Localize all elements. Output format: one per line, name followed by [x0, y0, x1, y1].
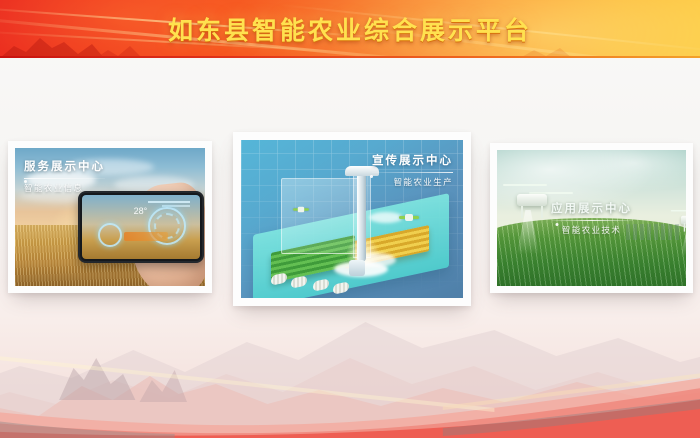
- light-streak-foreground: [0, 352, 700, 422]
- drone-body: [517, 194, 547, 206]
- drone-leg: [521, 206, 523, 218]
- glass-panel: [281, 178, 363, 254]
- card-promotion-caption: 宣传展示中心 智能农业生产: [372, 154, 453, 188]
- card-application-caption: 应用展示中心 智能农业技术: [551, 202, 632, 236]
- card-application-image: 应用展示中心 智能农业技术: [497, 150, 686, 286]
- card-service-title: 服务展示中心: [24, 160, 105, 174]
- temperature-readout: 28°: [134, 206, 148, 216]
- drone-rotor-icon: [503, 184, 547, 186]
- page-title: 如东县智能农业综合展示平台: [0, 0, 700, 58]
- drone-leg: [541, 206, 543, 218]
- card-promotion-display-center[interactable]: 宣传展示中心 智能农业生产: [233, 132, 471, 306]
- header-banner: 如东县智能农业综合展示平台: [0, 0, 700, 58]
- drone-rotor-icon: [671, 210, 686, 211]
- water-bucket-icon: [349, 260, 365, 276]
- card-service-subtitle: 智能农业信息: [24, 182, 105, 194]
- card-promotion-image: 宣传展示中心 智能农业生产: [241, 140, 463, 298]
- caption-dot-icon: [24, 180, 27, 183]
- card-application-subtitle: 智能农业技术: [551, 224, 632, 236]
- card-service-display-center[interactable]: 28° 服务展示中心 智能农业信息: [8, 141, 212, 293]
- phone-screen: 28°: [82, 195, 200, 259]
- card-service-image: 28° 服务展示中心 智能农业信息: [15, 148, 205, 286]
- card-service-caption: 服务展示中心 智能农业信息: [24, 160, 105, 194]
- drone-icon: [293, 207, 309, 213]
- smartphone-illustration: 28°: [78, 191, 204, 263]
- caption-dot-icon: [555, 223, 558, 226]
- caption-divider: [372, 172, 453, 173]
- drone-icon: [399, 214, 419, 221]
- card-promotion-subtitle: 智能农业生产: [372, 176, 453, 188]
- drone-leg: [684, 223, 685, 232]
- cloud-icon: [369, 212, 403, 223]
- hud-bar-icon: [148, 201, 190, 203]
- caption-dot-icon: [370, 175, 373, 178]
- card-promotion-title: 宣传展示中心: [372, 154, 453, 168]
- hud-tag: [124, 232, 168, 241]
- caption-divider: [24, 178, 105, 179]
- card-application-title: 应用展示中心: [551, 202, 632, 216]
- card-application-display-center[interactable]: 应用展示中心 智能农业技术: [490, 143, 693, 293]
- hud-ring-icon: [98, 223, 122, 247]
- distant-city-skyline: [626, 224, 680, 240]
- monitoring-pole: [357, 168, 366, 262]
- caption-divider: [551, 220, 632, 221]
- page-root: 如东县智能农业综合展示平台 28°: [0, 0, 700, 438]
